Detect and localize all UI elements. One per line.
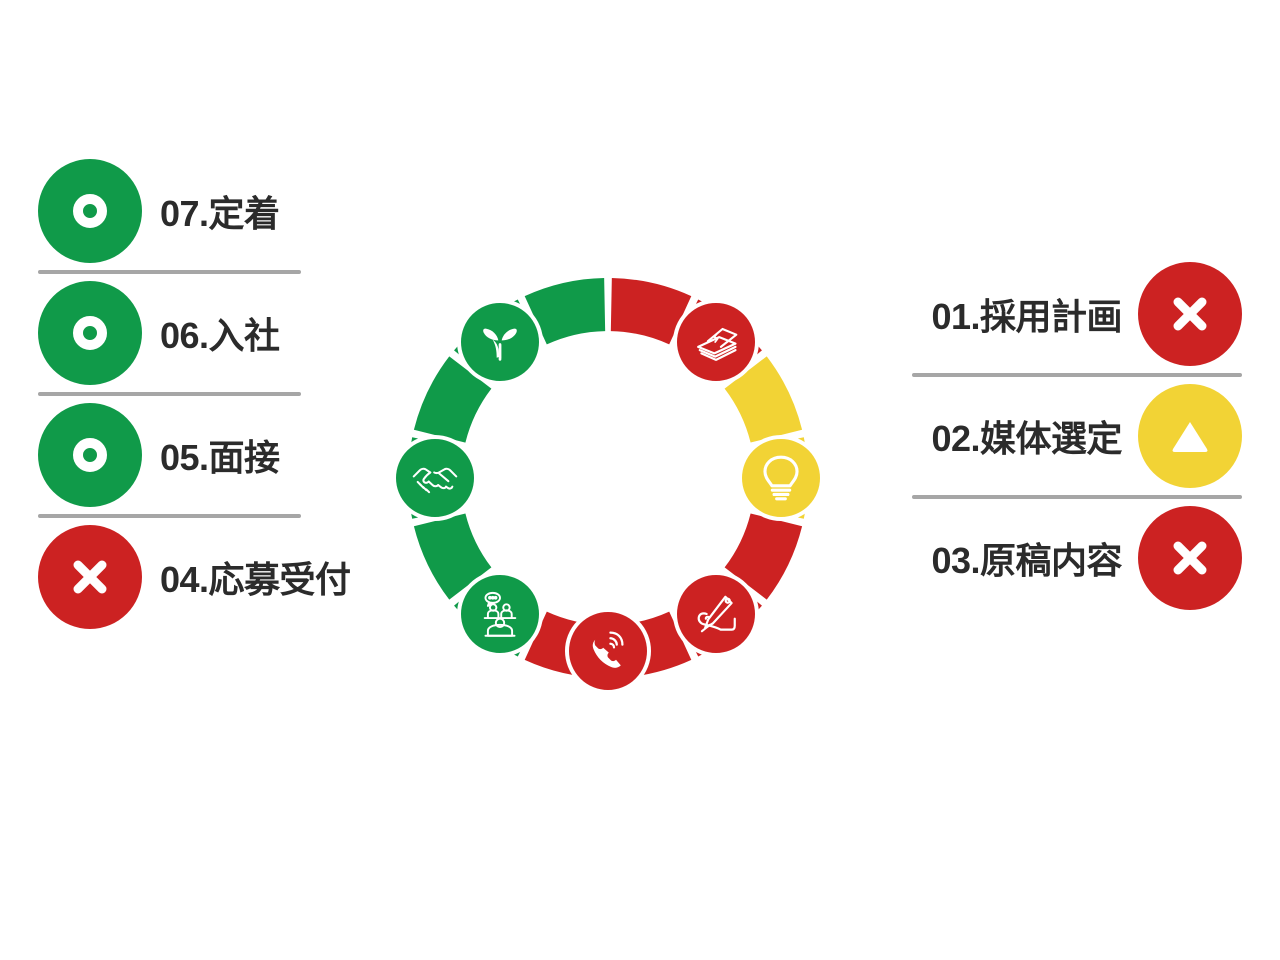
- sprout-icon: [476, 320, 524, 364]
- step-label-03: 03.原稿内容: [931, 532, 1122, 584]
- ring-icon: [73, 194, 107, 228]
- node-disc[interactable]: [738, 435, 824, 521]
- phone-ring-icon: [584, 627, 632, 675]
- handshake-icon: [409, 454, 461, 502]
- left-step-list: 07.定着 06.入社 05.面接 04.応募受付: [38, 152, 368, 636]
- step-label-06: 06.入社: [160, 307, 280, 359]
- list-item-01[interactable]: 01.採用計画: [912, 255, 1242, 373]
- step-label-04: 04.応募受付: [160, 551, 351, 603]
- step-label-01: 01.採用計画: [931, 288, 1122, 340]
- step-badge-02[interactable]: [1138, 384, 1242, 488]
- list-item-07[interactable]: 07.定着: [38, 152, 368, 270]
- cross-icon: [1167, 291, 1213, 337]
- list-item-05[interactable]: 05.面接: [38, 396, 368, 514]
- list-item-06[interactable]: 06.入社: [38, 274, 368, 392]
- cycle-donut-chart: [408, 278, 808, 678]
- step-badge-03[interactable]: [1138, 506, 1242, 610]
- hand-writing-icon: [691, 589, 741, 639]
- books-stack-icon: [690, 316, 742, 368]
- step-badge-04[interactable]: [38, 525, 142, 629]
- node-disc[interactable]: [673, 571, 759, 657]
- step-label-05: 05.面接: [160, 429, 280, 481]
- node-disc[interactable]: [457, 299, 543, 385]
- list-item-02[interactable]: 02.媒体選定: [912, 377, 1242, 495]
- triangle-icon: [1166, 414, 1214, 458]
- right-step-list: 01.採用計画 02.媒体選定 03.原稿内容: [912, 255, 1242, 617]
- infographic-canvas: 07.定着 06.入社 05.面接 04.応募受付: [0, 0, 1280, 960]
- step-badge-06[interactable]: [38, 281, 142, 385]
- list-item-03[interactable]: 03.原稿内容: [912, 499, 1242, 617]
- list-item-04[interactable]: 04.応募受付: [38, 518, 368, 636]
- step-badge-01[interactable]: [1138, 262, 1242, 366]
- node-disc[interactable]: [392, 435, 478, 521]
- cross-icon: [67, 554, 113, 600]
- ring-icon: [73, 316, 107, 350]
- step-label-02: 02.媒体選定: [931, 410, 1122, 462]
- step-label-07: 07.定着: [160, 185, 280, 237]
- cross-icon: [1167, 535, 1213, 581]
- ring-icon: [73, 438, 107, 472]
- node-disc[interactable]: [457, 571, 543, 657]
- node-disc[interactable]: [565, 608, 651, 694]
- lightbulb-icon: [758, 452, 804, 504]
- step-badge-07[interactable]: [38, 159, 142, 263]
- interview-icon: [475, 589, 525, 639]
- step-badge-05[interactable]: [38, 403, 142, 507]
